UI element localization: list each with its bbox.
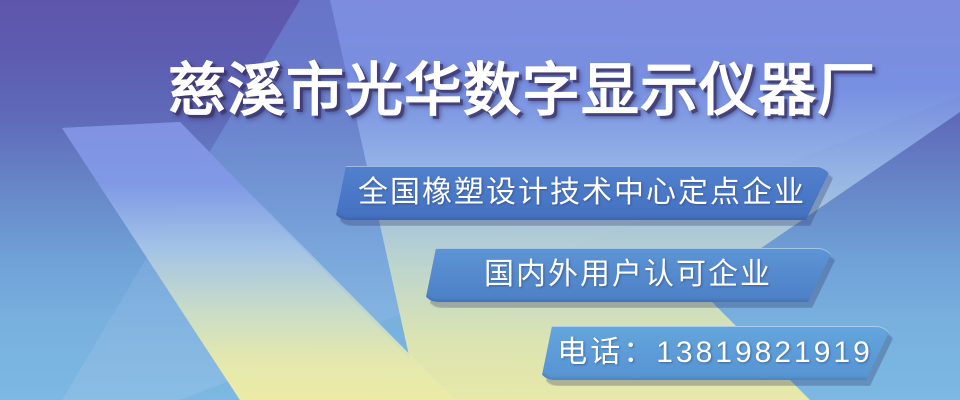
badge-ribbon-2-label: 国内外用户认可企业: [422, 248, 834, 302]
badge-ribbon-1-label: 全国橡塑设计技术中心定点企业: [332, 166, 832, 220]
banner-title: 慈溪市光华数字显示仪器厂: [168, 52, 948, 130]
company-promo-banner: 慈溪市光华数字显示仪器厂 全国橡塑设计技术中心定点企业 国内外用户认可企业 电话…: [0, 0, 960, 400]
badge-ribbon-phone: 电话：13819821919: [538, 326, 892, 384]
badge-ribbon-2: 国内外用户认可企业: [422, 248, 834, 306]
badge-ribbon-phone-label: 电话：13819821919: [538, 326, 892, 380]
badge-ribbon-1: 全国橡塑设计技术中心定点企业: [332, 166, 832, 224]
